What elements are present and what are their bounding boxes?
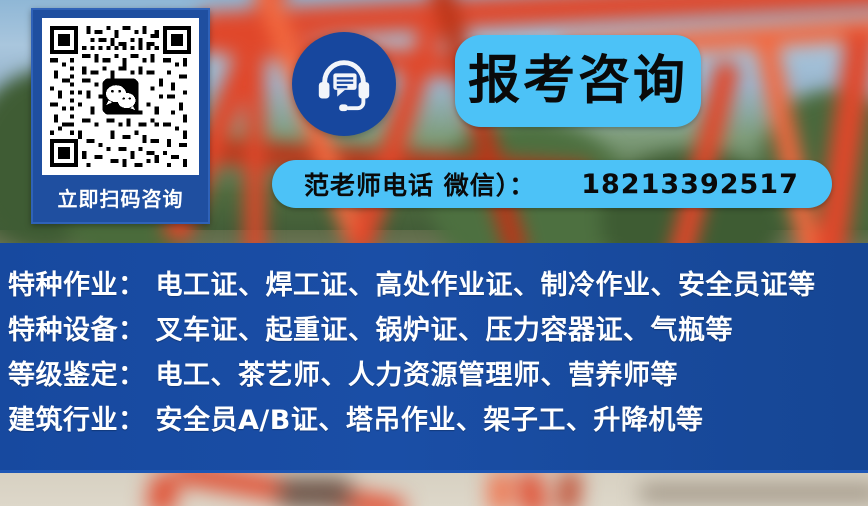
qr-code-image (42, 18, 199, 175)
info-row: 特种设备： 叉车证、起重证、锅炉证、压力容器证、气瓶等 (0, 308, 868, 353)
info-row-value: 安全员A/B证、塔吊作业、架子工、升降机等 (156, 398, 704, 437)
panel-bottom-divider (0, 470, 868, 473)
headset-support-icon (313, 53, 375, 115)
phone-number[interactable]: 18213392517 (581, 169, 799, 200)
info-row-label: 特种设备： (8, 308, 146, 347)
info-row-value: 叉车证、起重证、锅炉证、压力容器证、气瓶等 (156, 308, 734, 347)
title-badge-text: 报考咨询 (468, 55, 688, 107)
qr-caption: 立即扫码咨询 (33, 182, 208, 220)
crane-leg (490, 472, 510, 506)
machine-body (280, 478, 350, 506)
phone-badge[interactable]: 范老师电话 微信）： 18213392517 (272, 160, 832, 208)
info-row-value: 电工证、焊工证、高处作业证、制冷作业、安全员证等 (156, 263, 816, 302)
title-badge[interactable]: 报考咨询 (455, 35, 701, 127)
info-row-value: 电工、茶艺师、人力资源管理师、营养师等 (156, 353, 679, 392)
qr-code-svg (46, 22, 195, 171)
info-row: 建筑行业： 安全员A/B证、塔吊作业、架子工、升降机等 (0, 398, 868, 443)
poster-root: 立即扫码咨询 报考咨询 范老师电话 微信）： 18213392517 特种作业：… (0, 0, 868, 506)
info-row-label: 特种作业： (8, 263, 146, 302)
crane-leg (517, 471, 547, 506)
rail-beam (640, 486, 868, 500)
qr-card[interactable]: 立即扫码咨询 (31, 8, 210, 224)
info-row-label: 建筑行业： (8, 398, 146, 437)
info-row: 等级鉴定： 电工、茶艺师、人力资源管理师、营养师等 (0, 353, 868, 398)
crane-leg (558, 471, 580, 506)
services-info-panel: 特种作业： 电工证、焊工证、高处作业证、制冷作业、安全员证等 特种设备： 叉车证… (0, 243, 868, 472)
phone-label: 范老师电话 微信）： (304, 166, 535, 202)
headset-support-badge[interactable] (292, 32, 396, 136)
info-row: 特种作业： 电工证、焊工证、高处作业证、制冷作业、安全员证等 (0, 263, 868, 308)
info-row-label: 等级鉴定： (8, 353, 146, 392)
